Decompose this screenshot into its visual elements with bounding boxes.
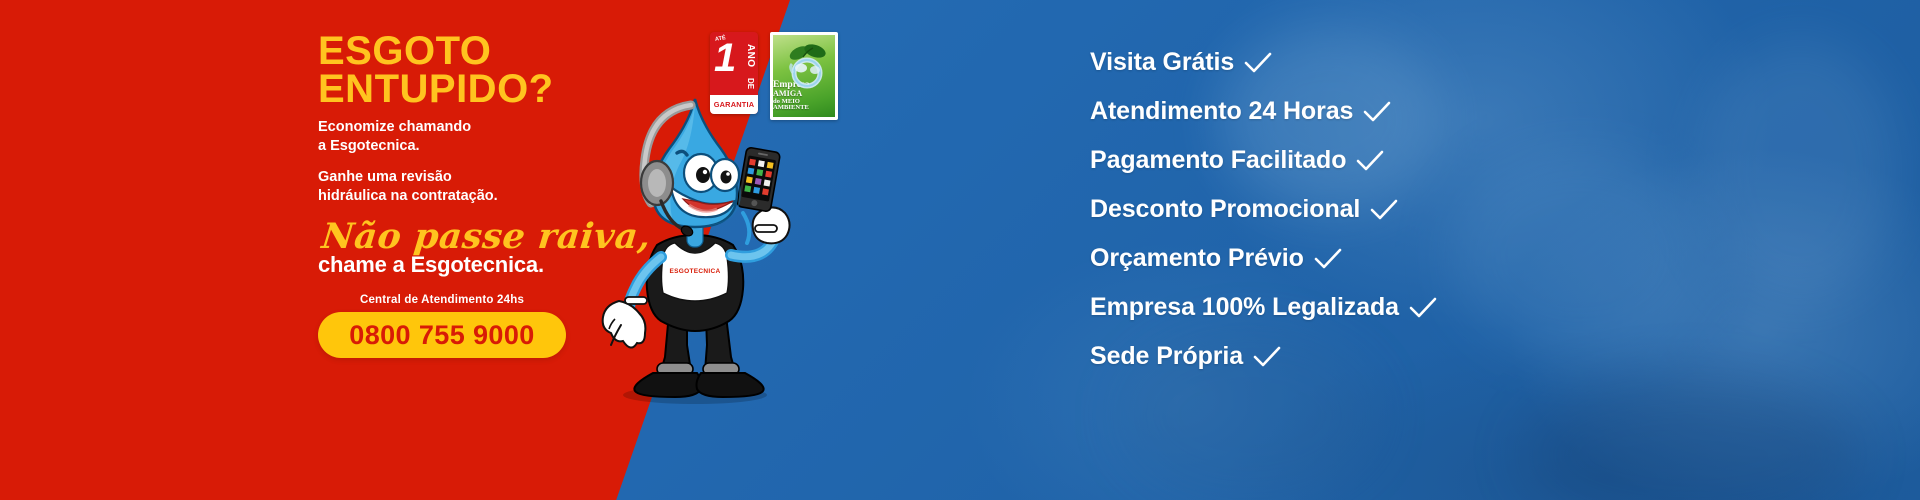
guarantee-badge: ATÉ 1 ANO DE GARANTIA	[710, 32, 758, 114]
checklist-item-label: Orçamento Prévio	[1090, 244, 1304, 273]
guarantee-number: 1	[714, 38, 736, 78]
checklist-item-label: Atendimento 24 Horas	[1090, 97, 1353, 126]
eco-leaf-water-icon	[773, 41, 835, 89]
eco-badge-inner: Empresa AMIGA do MEIO AMBIENTE	[773, 35, 835, 117]
check-icon	[1369, 198, 1399, 222]
check-icon	[1355, 149, 1385, 173]
checklist-item-label: Visita Grátis	[1090, 48, 1234, 77]
guarantee-ano-label: ANO	[745, 44, 756, 67]
checklist-item: Empresa 100% Legalizada	[1090, 283, 1850, 332]
guarantee-badge-top: ATÉ 1 ANO DE	[710, 32, 758, 95]
checklist-item: Sede Própria	[1090, 332, 1850, 381]
benefits-checklist: Visita Grátis Atendimento 24 Horas Pagam…	[1090, 38, 1850, 381]
check-icon	[1252, 345, 1282, 369]
mascot-water-drop-character: ESGOTECNICA	[595, 95, 795, 405]
promo-banner: ESGOTO ENTUPIDO? Economize chamando a Es…	[0, 0, 1920, 500]
checklist-item: Atendimento 24 Horas	[1090, 87, 1850, 136]
eco-badge-line-2: do MEIO AMBIENTE	[773, 99, 835, 112]
paragraph-economize-line-2: a Esgotecnica.	[318, 137, 471, 156]
phone-button[interactable]: 0800 755 9000	[318, 312, 566, 358]
paragraph-economize: Economize chamando a Esgotecnica.	[318, 118, 471, 157]
checklist-item-label: Sede Própria	[1090, 342, 1243, 371]
eco-badge: Empresa AMIGA do MEIO AMBIENTE	[770, 32, 838, 120]
check-icon	[1362, 100, 1392, 124]
paragraph-revisao-line-2: hidráulica na contratação.	[318, 187, 498, 206]
checklist-item: Pagamento Facilitado	[1090, 136, 1850, 185]
checklist-item-label: Empresa 100% Legalizada	[1090, 293, 1399, 322]
check-icon	[1313, 247, 1343, 271]
headline-line-2: ENTUPIDO?	[318, 70, 554, 108]
guarantee-de-label: DE	[746, 78, 755, 89]
check-icon	[1243, 51, 1273, 75]
paragraph-economize-line-1: Economize chamando	[318, 118, 471, 137]
checklist-item: Desconto Promocional	[1090, 185, 1850, 234]
paragraph-revisao-line-1: Ganhe uma revisão	[318, 168, 498, 187]
guarantee-garantia-label: GARANTIA	[710, 95, 758, 114]
phone-number: 0800 755 9000	[349, 320, 534, 351]
central-atendimento-label: Central de Atendimento 24hs	[318, 294, 566, 306]
certification-badges: ATÉ 1 ANO DE GARANTIA	[710, 32, 838, 120]
paragraph-revisao: Ganhe uma revisão hidráulica na contrata…	[318, 168, 498, 207]
checklist-item-label: Desconto Promocional	[1090, 195, 1360, 224]
checklist-item: Visita Grátis	[1090, 38, 1850, 87]
checklist-item-label: Pagamento Facilitado	[1090, 146, 1346, 175]
headline: ESGOTO ENTUPIDO?	[318, 32, 554, 109]
check-icon	[1408, 296, 1438, 320]
script-tagline-sub: chame a Esgotecnica.	[318, 252, 544, 278]
svg-text:ESGOTECNICA: ESGOTECNICA	[670, 268, 721, 275]
headline-line-1: ESGOTO	[318, 32, 554, 70]
checklist-item: Orçamento Prévio	[1090, 234, 1850, 283]
